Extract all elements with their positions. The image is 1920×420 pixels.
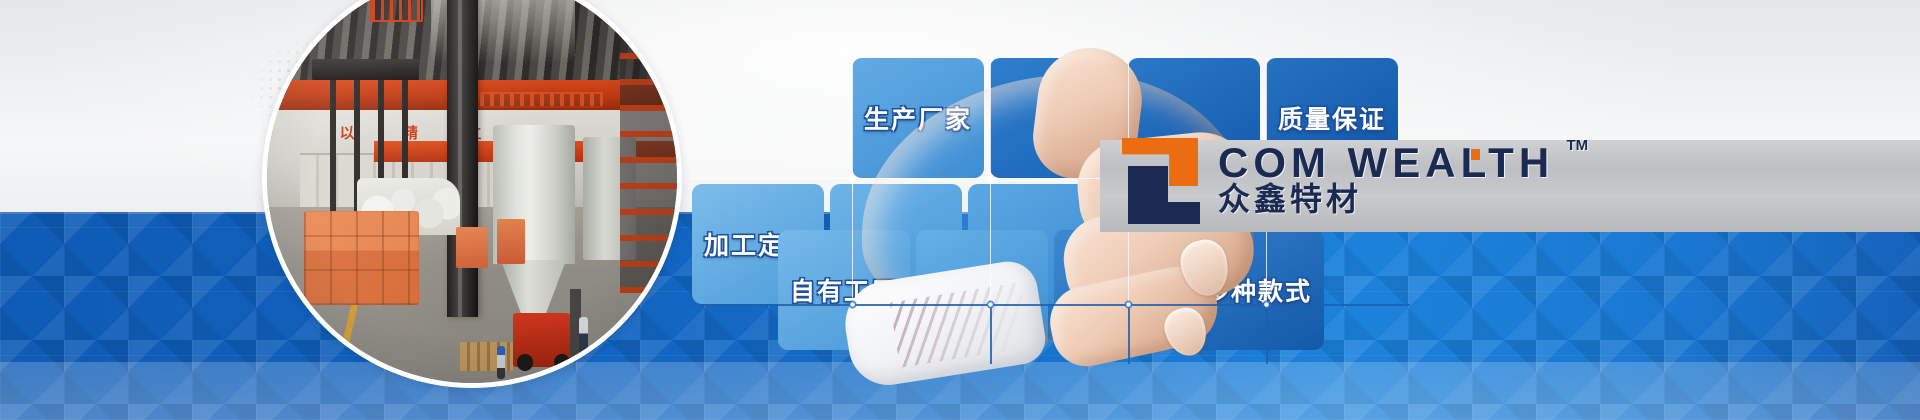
logo-plate: COM WEALTH TM 众鑫特材 bbox=[1100, 140, 1920, 232]
promo-banner: 以 精 立 业 bbox=[0, 0, 1920, 420]
logo-chinese-wordmark: 众鑫特材 bbox=[1218, 183, 1554, 217]
photo-access-platform bbox=[480, 92, 603, 108]
tile-factory-label: 自有工厂 bbox=[790, 272, 898, 308]
logo-text-block: COM WEALTH TM 众鑫特材 bbox=[1218, 142, 1554, 216]
photo-right-steel-frame bbox=[620, 0, 677, 293]
tile-styles[interactable]: 多种款式 bbox=[1192, 230, 1324, 350]
grid-node-8 bbox=[1262, 300, 1271, 309]
tile-row3-b[interactable] bbox=[916, 230, 1048, 350]
factory-photo-ring: 以 精 立 业 bbox=[262, 0, 682, 388]
grid-node-2 bbox=[986, 174, 995, 183]
logo-english-text: COM WEALTH bbox=[1218, 139, 1554, 186]
photo-forklift-wheel-rear bbox=[554, 354, 570, 370]
photo-worker-crouching bbox=[497, 346, 505, 379]
photo-forklift-wheel-front bbox=[517, 354, 533, 370]
tile-quality-label: 质量保证 bbox=[1278, 100, 1386, 136]
logo-accent-dot bbox=[1471, 149, 1480, 160]
grid-node-7 bbox=[1124, 300, 1133, 309]
gridline-v6 bbox=[1128, 304, 1130, 364]
photo-orange-bag-a bbox=[456, 227, 489, 268]
tile-production-label: 生产厂家 bbox=[864, 100, 972, 136]
gridline-h2 bbox=[690, 304, 1410, 306]
photo-worker-standing bbox=[579, 317, 588, 358]
grid-node-5 bbox=[848, 300, 857, 309]
logo-english-wordmark: COM WEALTH TM bbox=[1218, 142, 1554, 185]
tile-styles-label: 多种款式 bbox=[1204, 272, 1312, 308]
grid-node-1 bbox=[848, 174, 857, 183]
photo-wooden-pallet bbox=[460, 342, 513, 371]
tile-factory[interactable]: 自有工厂 bbox=[778, 230, 910, 350]
photo-red-crane-cage bbox=[370, 0, 423, 22]
gridline-v7 bbox=[1266, 304, 1268, 364]
tile-row3-c[interactable] bbox=[1054, 230, 1186, 350]
logo-trademark-symbol: TM bbox=[1567, 138, 1589, 153]
photo-orange-bag-b bbox=[497, 219, 526, 264]
tile-production[interactable]: 生产厂家 bbox=[852, 58, 984, 178]
photo-gantry-beam bbox=[312, 59, 419, 80]
photo-steel-column bbox=[447, 0, 478, 317]
grid-node-6 bbox=[986, 300, 995, 309]
logo-lockup: COM WEALTH TM 众鑫特材 bbox=[1118, 132, 1554, 226]
photo-bag-seams bbox=[304, 211, 419, 305]
factory-interior-photo: 以 精 立 业 bbox=[267, 0, 677, 383]
gridline-v5 bbox=[990, 304, 992, 364]
comwealth-z-logo-icon bbox=[1118, 132, 1204, 226]
